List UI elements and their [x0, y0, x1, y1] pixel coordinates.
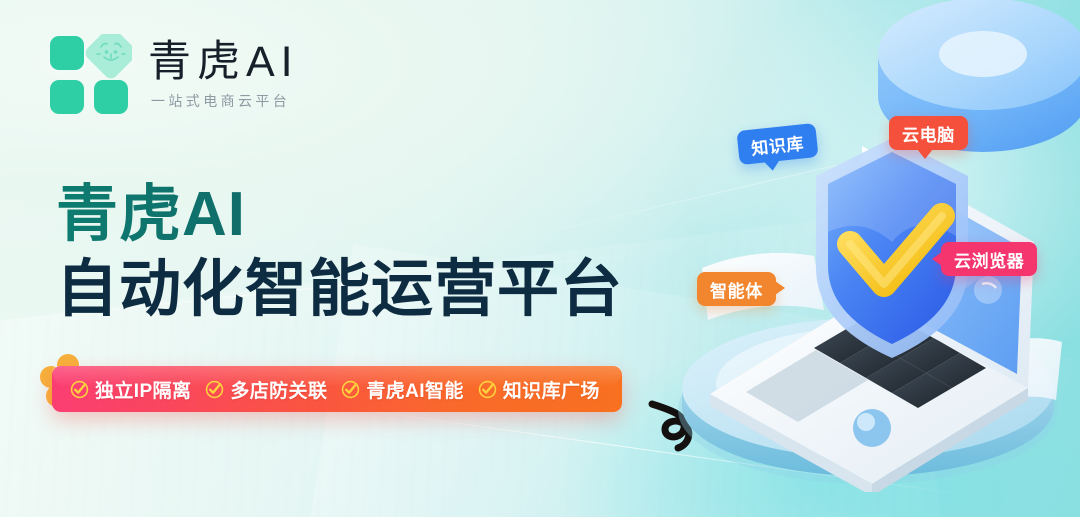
headline-line-2: 自动化智能运营平台: [56, 257, 623, 324]
check-circle-icon: [478, 380, 497, 399]
feature-item: 青虎AI智能: [341, 376, 463, 403]
feature-label: 多店防关联: [230, 376, 327, 403]
check-circle-icon: [205, 380, 224, 399]
tag-agent[interactable]: 智能体: [697, 272, 776, 306]
feature-label: 知识库广场: [503, 376, 600, 403]
tag-label: 云电脑: [902, 121, 955, 146]
tag-label: 知识库: [750, 129, 805, 159]
brand-logo[interactable]: 青虎AI 一站式电商云平台: [48, 34, 299, 118]
feature-item: 多店防关联: [205, 376, 327, 403]
brand-wordmark: 青虎AI: [148, 41, 299, 85]
headline-block: 青虎AI 自动化智能运营平台: [56, 182, 623, 324]
feature-label: 独立IP隔离: [95, 376, 191, 403]
brand-tagline: 一站式电商云平台: [151, 91, 290, 111]
headline-line-1: 青虎AI: [56, 182, 623, 249]
tag-cloud-pc[interactable]: 云电脑: [889, 116, 968, 150]
feature-highlight-bar: 独立IP隔离 多店防关联 青虎AI智能 知识库广场: [52, 366, 622, 412]
tag-cloud-browser[interactable]: 云浏览器: [941, 242, 1037, 276]
tag-label: 智能体: [710, 277, 763, 302]
feature-item: 独立IP隔离: [70, 376, 191, 403]
tag-tail: [932, 252, 942, 266]
feature-item: 知识库广场: [478, 376, 600, 403]
check-circle-icon: [70, 380, 89, 399]
tag-tail: [917, 149, 933, 159]
tag-label: 云浏览器: [954, 247, 1024, 272]
tag-tail: [764, 160, 781, 172]
promo-banner: 青虎AI 一站式电商云平台 青虎AI 自动化智能运营平台 独立IP隔离: [0, 0, 1080, 517]
check-circle-icon: [341, 380, 360, 399]
tiger-diamond-tiles-logo-icon: [48, 34, 132, 118]
tag-tail: [775, 281, 785, 295]
feature-label: 青虎AI智能: [366, 376, 463, 403]
